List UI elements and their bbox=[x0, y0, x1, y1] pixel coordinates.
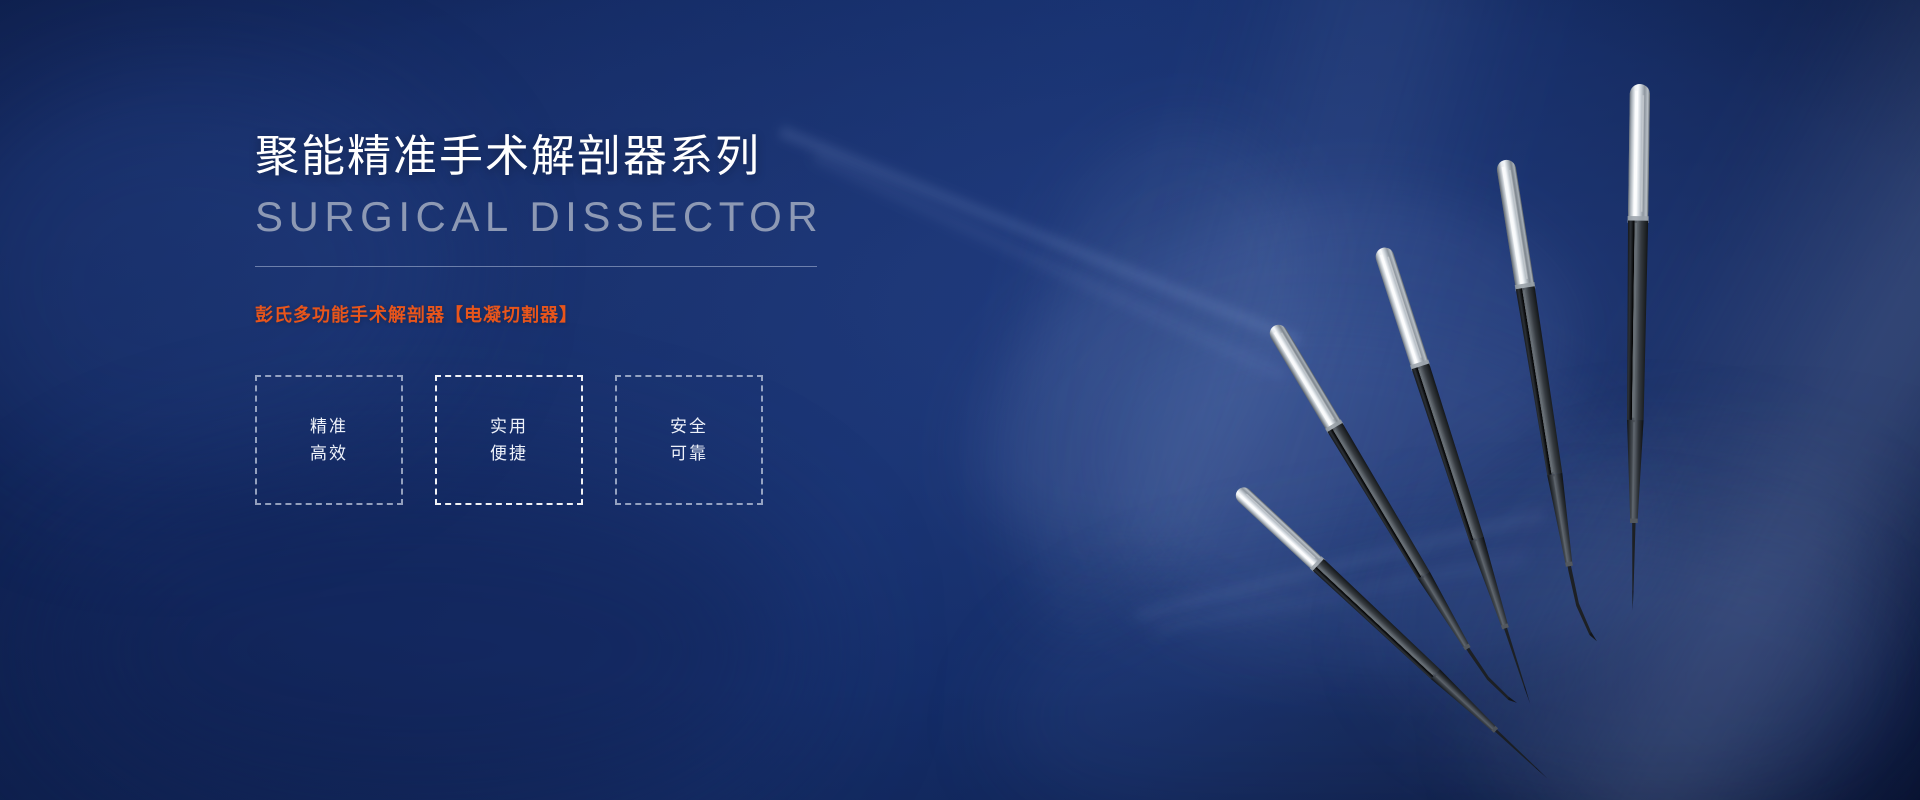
feature-card-3-line2: 可靠 bbox=[670, 445, 708, 462]
product-subtitle: 彭氏多功能手术解剖器【电凝切割器】 bbox=[255, 301, 935, 327]
light-beam bbox=[1411, 0, 1920, 800]
feature-card-2-line2: 便捷 bbox=[490, 445, 528, 462]
feature-card-1[interactable]: 精准 高效 bbox=[255, 375, 403, 505]
instrument-2 bbox=[1266, 319, 1517, 715]
feature-card-2[interactable]: 实用 便捷 bbox=[435, 375, 583, 505]
page-title: 聚能精准手术解剖器系列 bbox=[255, 130, 935, 185]
instrument-1 bbox=[1232, 484, 1553, 785]
feature-card-1-line1: 精准 bbox=[310, 418, 348, 435]
instrument-4 bbox=[1495, 158, 1597, 646]
banner-copy: 聚能精准手术解剖器系列 SURGICAL DISSECTOR 彭氏多功能手术解剖… bbox=[255, 130, 935, 505]
feature-card-1-line2: 高效 bbox=[310, 445, 348, 462]
feature-card-2-line1: 实用 bbox=[490, 418, 528, 435]
instrument-5 bbox=[1622, 84, 1650, 611]
feature-card-3[interactable]: 安全 可靠 bbox=[615, 375, 763, 505]
feature-card-3-line1: 安全 bbox=[670, 418, 708, 435]
divider bbox=[255, 266, 817, 267]
product-banner: 聚能精准手术解剖器系列 SURGICAL DISSECTOR 彭氏多功能手术解剖… bbox=[0, 0, 1920, 800]
page-title-en: SURGICAL DISSECTOR bbox=[255, 191, 935, 242]
light-beam-secondary bbox=[1062, 0, 1598, 664]
instrument-3 bbox=[1373, 245, 1539, 707]
feature-list: 精准 高效 实用 便捷 安全 可靠 bbox=[255, 375, 935, 505]
